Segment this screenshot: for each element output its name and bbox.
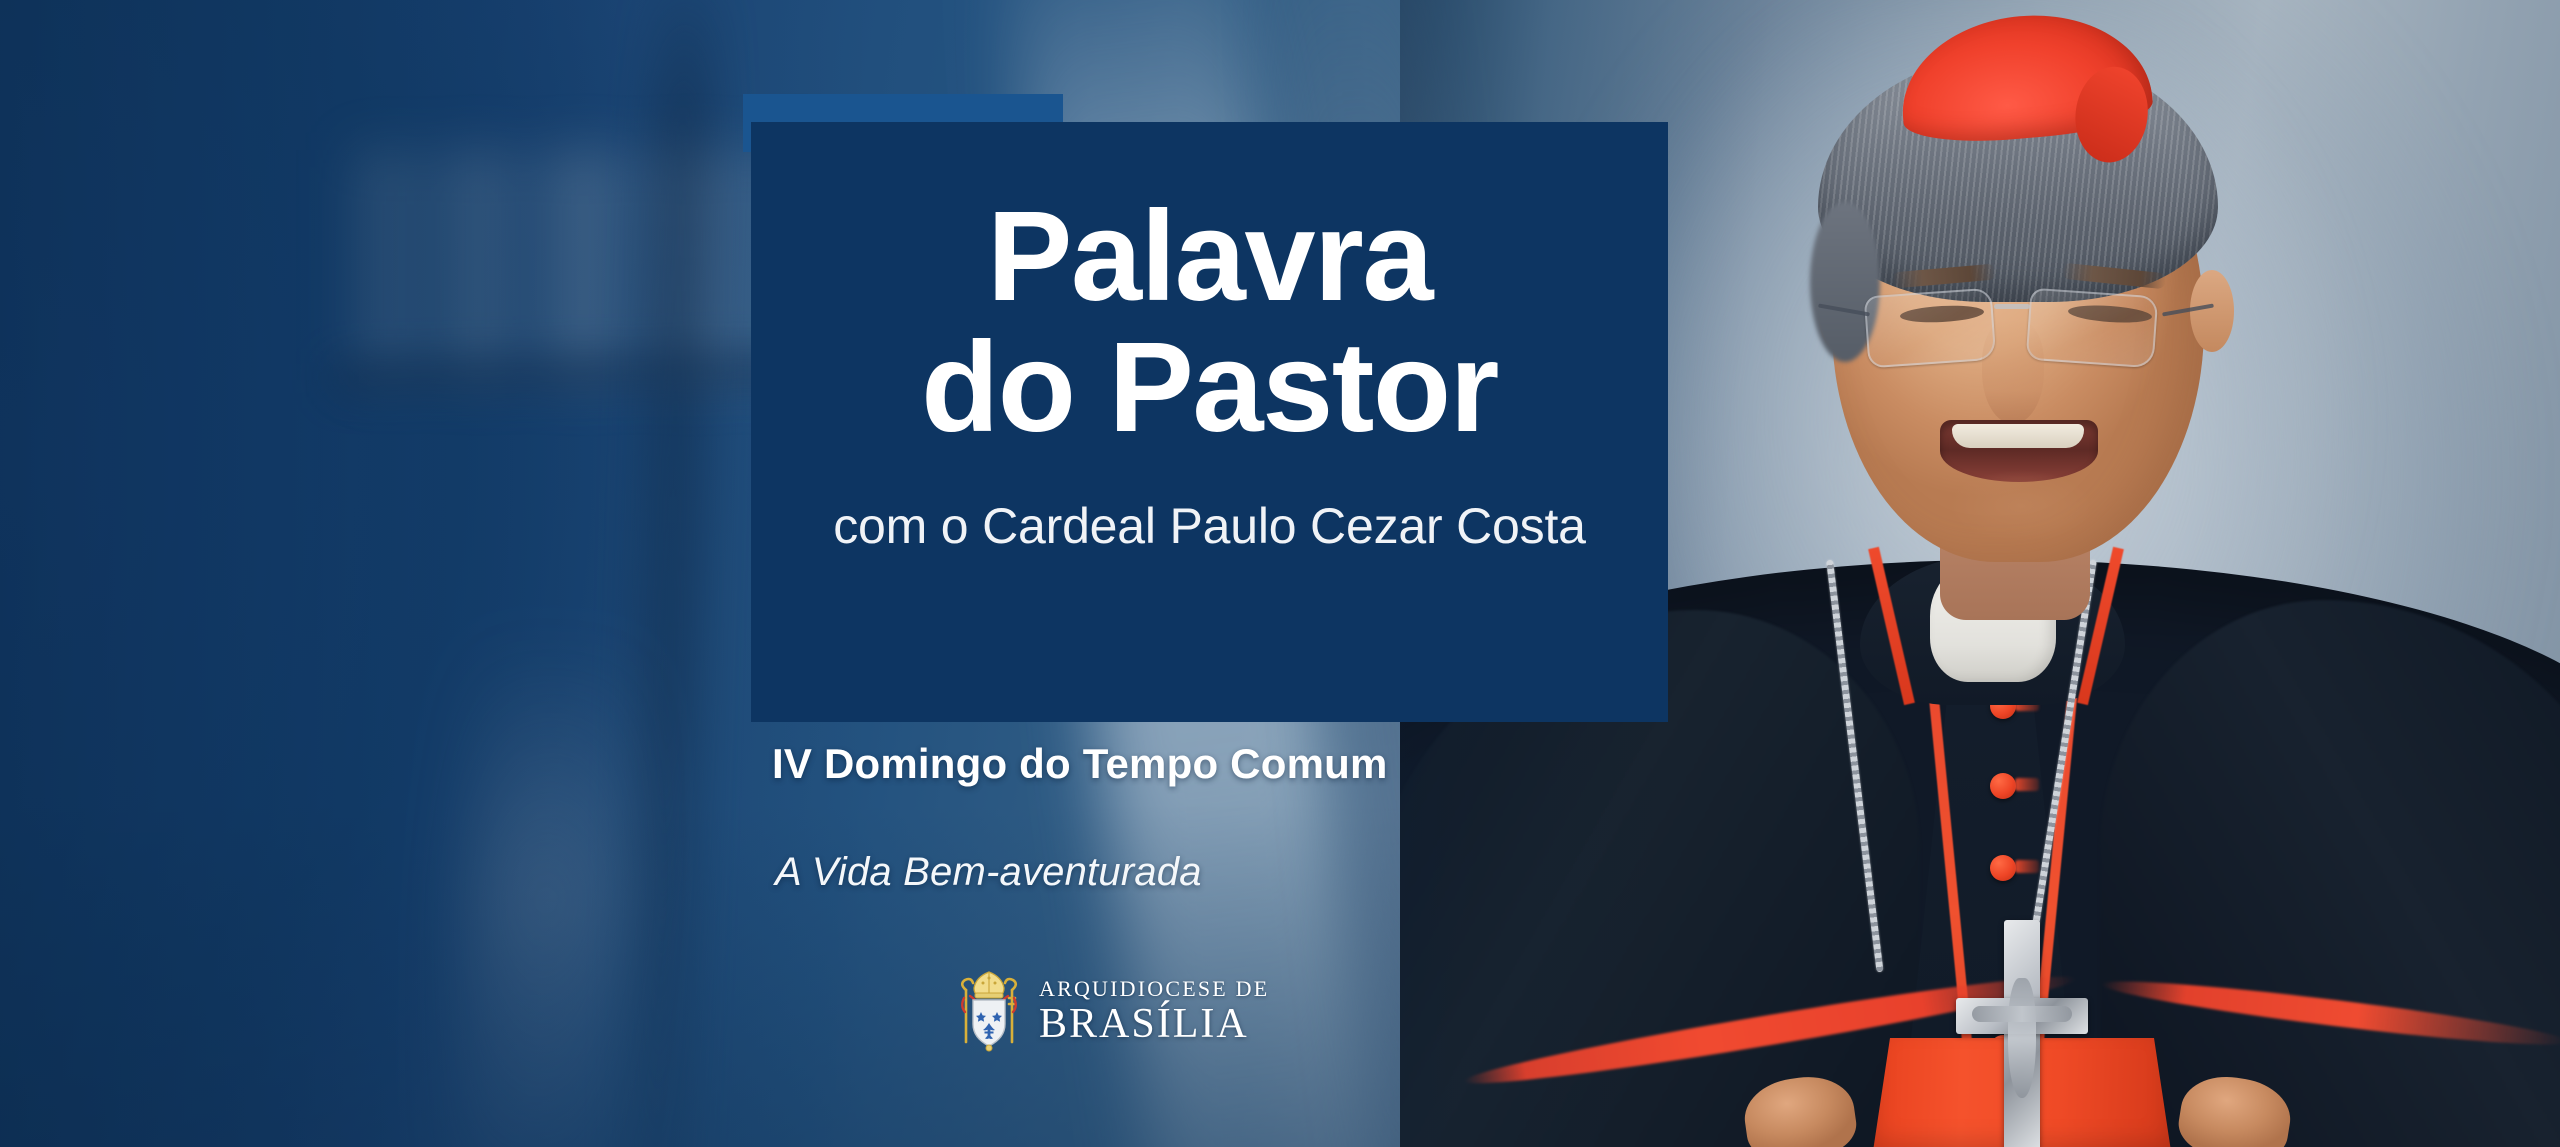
archdiocese-wordmark: Arquidiocese de BRASÍLIA <box>1039 978 1269 1045</box>
lens-left <box>1864 288 1997 369</box>
program-title-line-2: do Pastor <box>921 323 1498 454</box>
nose <box>1982 320 2044 424</box>
archdiocese-logo: Arquidiocese de BRASÍLIA <box>953 968 1269 1054</box>
wordmark-line-main: BRASÍLIA <box>1039 1003 1269 1045</box>
banner-root: Palavra do Pastor com o Cardeal Paulo Ce… <box>0 0 2560 1147</box>
cassock-button <box>1990 773 2016 799</box>
glasses-bridge <box>1994 304 2030 309</box>
coat-of-arms-icon <box>953 968 1025 1054</box>
cross-corpus <box>2008 978 2036 1098</box>
program-host-subtitle: com o Cardeal Paulo Cezar Costa <box>833 497 1586 555</box>
chin <box>1928 470 2114 560</box>
cassock-shoulder-right <box>2100 600 2560 1147</box>
title-card: Palavra do Pastor com o Cardeal Paulo Ce… <box>751 122 1668 722</box>
wordmark-line-top: Arquidiocese de <box>1039 978 1269 1000</box>
pectoral-cross-icon <box>1956 920 2088 1147</box>
cross-corpus-arms <box>1972 1006 2072 1022</box>
program-title-line-1: Palavra <box>987 192 1432 323</box>
cassock-button <box>1990 855 2016 881</box>
teeth <box>1952 424 2084 448</box>
liturgical-occasion: IV Domingo do Tempo Comum <box>772 740 1388 788</box>
lens-right <box>2026 288 2159 369</box>
homily-title: A Vida Bem-aventurada <box>775 850 1202 895</box>
